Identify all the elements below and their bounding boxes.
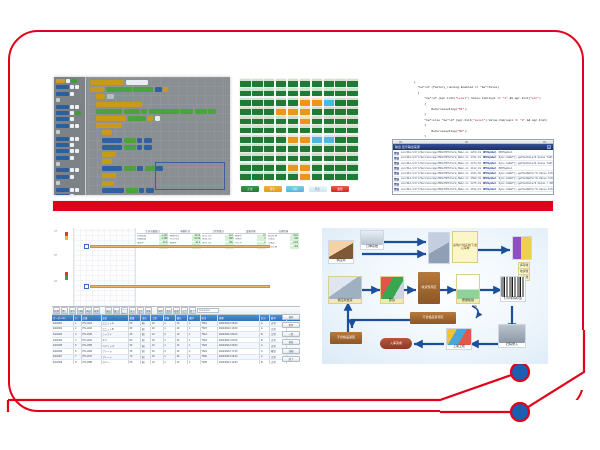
log-message: Sync.CoRef().getValAxis/S.Value.ToStr.. <box>499 162 553 165</box>
status-card[interactable] <box>300 172 311 180</box>
palette-block[interactable] <box>70 188 74 192</box>
table-cell: 2024/03/12 17:00 <box>218 349 260 354</box>
panel-flow-diagram[interactable]: 供应商 订单系统 采购计划系统下发入库单 库存账 收货账 上架账 供应商送货 卸… <box>322 228 548 364</box>
flow-node-archive[interactable] <box>512 236 532 260</box>
palette-block[interactable] <box>56 98 60 102</box>
status-card[interactable] <box>252 98 263 106</box>
status-card[interactable] <box>288 98 299 106</box>
code-block[interactable] <box>141 109 147 114</box>
panel-status-grid[interactable]: 正常警告待机停止故障 <box>238 77 360 195</box>
status-card[interactable] <box>288 116 299 124</box>
status-card[interactable] <box>300 135 311 143</box>
code-block[interactable] <box>96 94 105 99</box>
status-card[interactable] <box>264 144 275 152</box>
code-block[interactable] <box>90 80 124 85</box>
code-block-row[interactable] <box>102 152 228 157</box>
palette-block[interactable] <box>70 92 74 96</box>
palette-block[interactable] <box>75 85 79 89</box>
gantt-node-1[interactable] <box>84 244 89 249</box>
code-block[interactable] <box>124 166 136 171</box>
status-card[interactable] <box>276 153 287 161</box>
status-card[interactable] <box>288 88 299 96</box>
status-card[interactable] <box>288 153 299 161</box>
toolbar-button[interactable]: 設定 <box>137 307 144 314</box>
toolbar-button[interactable]: ソート <box>121 307 128 314</box>
palette-block[interactable] <box>75 188 79 192</box>
palette-block[interactable] <box>56 156 69 160</box>
flow-node-unload[interactable]: 卸货 <box>380 276 404 304</box>
palette-block[interactable] <box>75 149 79 153</box>
palette-block[interactable] <box>70 85 74 89</box>
status-card[interactable] <box>335 125 346 133</box>
status-card[interactable] <box>335 163 346 171</box>
status-card[interactable] <box>240 107 251 115</box>
palette-block-row[interactable] <box>56 117 83 121</box>
side-action-button[interactable]: 一覧 <box>282 331 300 337</box>
code-block[interactable] <box>102 130 112 135</box>
summary-value: 640 <box>290 238 299 241</box>
code-block[interactable] <box>144 138 152 143</box>
code-text-area[interactable]: { "kw">if (factory_running.Enabled == "k… <box>392 77 554 137</box>
code-block[interactable] <box>107 94 114 99</box>
palette-block[interactable] <box>70 175 74 179</box>
status-card[interactable] <box>288 125 299 133</box>
code-block-row[interactable] <box>96 109 228 114</box>
palette-block-row[interactable] <box>56 181 83 185</box>
palette-block[interactable] <box>56 137 69 141</box>
palette-block-row[interactable] <box>56 149 83 153</box>
code-block[interactable] <box>137 138 142 143</box>
status-card[interactable] <box>347 88 358 96</box>
status-card[interactable] <box>264 163 275 171</box>
palette-block[interactable] <box>56 117 69 121</box>
palette-block-row[interactable] <box>56 143 83 147</box>
palette-block[interactable] <box>56 130 60 134</box>
status-card[interactable] <box>300 163 311 171</box>
status-card[interactable] <box>264 125 275 133</box>
flow-node-label-print[interactable]: 打印条码标签 <box>500 276 526 302</box>
table-row[interactable]: 24010088PN-1088カバー55個101101T6352024/03/1… <box>52 360 300 364</box>
code-block[interactable] <box>124 109 140 114</box>
status-card[interactable] <box>240 88 251 96</box>
code-block[interactable] <box>180 109 193 114</box>
log-row[interactable]: 错误con/DLL/ctrl/Service/app/MFG/PRT/Form_… <box>393 187 553 192</box>
toolbar-button[interactable]: 印刷 <box>77 307 84 314</box>
toolbar-button[interactable]: 出力 <box>181 307 188 314</box>
status-card-grid[interactable] <box>240 79 358 180</box>
status-card[interactable] <box>312 98 323 106</box>
side-action-button[interactable]: 更新 <box>282 339 300 345</box>
palette-block[interactable] <box>56 143 69 147</box>
status-card[interactable] <box>252 125 263 133</box>
status-card[interactable] <box>276 135 287 143</box>
blocks-canvas[interactable] <box>88 77 230 195</box>
code-block-row[interactable] <box>90 87 228 92</box>
code-block[interactable] <box>144 145 152 150</box>
palette-block[interactable] <box>70 105 74 109</box>
palette-block-row[interactable] <box>56 111 83 115</box>
status-card[interactable] <box>300 88 311 96</box>
status-card[interactable] <box>347 116 358 124</box>
summary-table: 設備状態稼働中18待機中4停止中2保守中1 <box>235 229 266 305</box>
status-card[interactable] <box>264 88 275 96</box>
flow-node-order-sys[interactable]: 订单系统 <box>360 230 384 250</box>
palette-block-row[interactable] <box>56 105 83 109</box>
status-card[interactable] <box>264 172 275 180</box>
status-card[interactable] <box>335 116 346 124</box>
toolbar-button[interactable]: 表示 <box>129 307 136 314</box>
palette-block[interactable] <box>70 143 74 147</box>
status-card[interactable] <box>288 172 299 180</box>
status-card[interactable] <box>324 135 335 143</box>
code-block[interactable] <box>128 116 146 121</box>
grid-toolbar[interactable]: 新規開く保存印刷再読検索抽出集計ソート表示設定更新削除追加複製出力終了Comma… <box>52 307 300 315</box>
code-block-row[interactable] <box>102 145 228 150</box>
palette-block[interactable] <box>56 124 69 128</box>
log-row-list[interactable]: 错误con/DLL/ctrl/Service/app/MFG/PRT/Form_… <box>393 150 553 192</box>
code-block[interactable] <box>146 188 154 193</box>
palette-block[interactable] <box>56 149 69 153</box>
scheduler-rail[interactable]: CT ST LD <box>52 228 74 306</box>
flow-label-delivery: 供应商送货 <box>337 299 352 303</box>
status-card[interactable] <box>288 135 299 143</box>
summary-table-title: 在庫情報 <box>268 229 299 234</box>
panel-blocks-editor[interactable] <box>54 77 230 195</box>
status-card[interactable] <box>324 144 335 152</box>
flow-node-shelve[interactable]: 上架上柜 <box>446 328 472 350</box>
status-card[interactable] <box>347 107 358 115</box>
status-card[interactable] <box>264 98 275 106</box>
status-card[interactable] <box>252 144 263 152</box>
flow-node-erp[interactable]: 采购计划系统下发入库单 <box>452 231 478 263</box>
palette-block[interactable] <box>56 181 60 185</box>
status-card[interactable] <box>300 125 311 133</box>
status-card[interactable] <box>276 107 287 115</box>
status-card[interactable] <box>312 153 323 161</box>
status-card[interactable] <box>324 163 335 171</box>
status-card[interactable] <box>264 79 275 87</box>
code-block[interactable] <box>147 116 153 121</box>
status-card[interactable] <box>324 153 335 161</box>
status-card[interactable] <box>312 144 323 152</box>
toolbar-button[interactable]: 検索 <box>93 307 100 314</box>
gantt-node-2[interactable] <box>84 284 89 289</box>
output-log-panel[interactable]: 输出 显示输出来源 × 错误con/DLL/ctrl/Service/app/M… <box>392 139 554 195</box>
status-card[interactable] <box>347 153 358 161</box>
palette-block[interactable] <box>75 111 81 115</box>
flow-node-printer[interactable] <box>428 232 450 264</box>
status-card[interactable] <box>252 116 263 124</box>
code-block[interactable] <box>102 188 124 193</box>
code-block[interactable] <box>90 87 104 92</box>
code-block[interactable] <box>155 87 162 92</box>
status-card[interactable] <box>347 172 358 180</box>
close-icon[interactable]: × <box>547 145 551 149</box>
flow-node-delivery[interactable]: 供应商送货 <box>328 276 362 304</box>
code-block[interactable] <box>124 145 136 150</box>
code-block[interactable] <box>163 87 168 92</box>
palette-block[interactable] <box>70 194 74 195</box>
status-card[interactable] <box>288 107 299 115</box>
code-block[interactable] <box>126 188 138 193</box>
palette-block[interactable] <box>56 162 60 166</box>
toolbar-button[interactable]: 終了 <box>189 307 196 314</box>
status-card[interactable] <box>264 107 275 115</box>
status-card[interactable] <box>252 135 263 143</box>
status-card[interactable] <box>312 79 323 87</box>
toolbar-button[interactable]: 複製 <box>173 307 180 314</box>
side-action-button[interactable]: 検索 <box>282 314 300 320</box>
flow-node-scan[interactable]: 扫码录入 <box>498 324 526 348</box>
palette-block-row[interactable] <box>56 130 83 134</box>
status-card[interactable] <box>240 125 251 133</box>
code-block-row[interactable] <box>90 80 228 85</box>
status-card[interactable] <box>300 153 311 161</box>
code-block-row[interactable] <box>96 94 228 99</box>
status-card[interactable] <box>347 79 358 87</box>
status-card[interactable] <box>264 116 275 124</box>
status-card[interactable] <box>335 144 346 152</box>
code-block-row[interactable] <box>96 116 228 121</box>
status-card[interactable] <box>324 116 335 124</box>
status-card[interactable] <box>252 153 263 161</box>
palette-block[interactable] <box>56 92 69 96</box>
palette-block[interactable] <box>70 117 74 121</box>
code-block-row[interactable] <box>102 130 228 135</box>
status-card-body <box>300 146 311 152</box>
code-block[interactable] <box>96 116 126 121</box>
blocks-palette[interactable] <box>54 77 86 195</box>
status-card[interactable] <box>312 116 323 124</box>
status-card[interactable] <box>324 107 335 115</box>
code-block[interactable] <box>145 166 155 171</box>
status-card[interactable] <box>240 153 251 161</box>
status-card[interactable] <box>324 125 335 133</box>
gantt-area[interactable] <box>74 228 136 306</box>
status-card[interactable] <box>300 107 311 115</box>
toolbar-button[interactable]: 集計 <box>113 307 120 314</box>
palette-block-row[interactable] <box>56 92 83 96</box>
status-card[interactable] <box>335 172 346 180</box>
gantt-bar-2[interactable] <box>90 285 270 288</box>
palette-block[interactable] <box>56 168 69 172</box>
code-block[interactable] <box>102 152 116 157</box>
status-card[interactable] <box>252 172 263 180</box>
code-block-row[interactable] <box>96 102 228 107</box>
status-card[interactable] <box>312 88 323 96</box>
palette-block-row[interactable] <box>56 98 83 102</box>
status-card[interactable] <box>252 107 263 115</box>
code-block[interactable] <box>124 138 136 143</box>
status-card[interactable] <box>276 163 287 171</box>
status-card[interactable] <box>240 79 251 87</box>
palette-block[interactable] <box>75 137 79 141</box>
status-card[interactable] <box>288 79 299 87</box>
toolbar-button[interactable]: 開く <box>61 307 68 314</box>
status-card[interactable] <box>276 98 287 106</box>
side-action-button[interactable]: 条件 <box>282 322 300 328</box>
status-card[interactable] <box>276 88 287 96</box>
status-card[interactable] <box>252 88 263 96</box>
scheduler-side-buttons[interactable]: 検索条件一覧更新印刷終了 <box>282 314 300 362</box>
toolbar-button[interactable]: 新規 <box>53 307 60 314</box>
palette-block-row[interactable] <box>56 194 83 195</box>
palette-block[interactable] <box>70 137 74 141</box>
status-card[interactable] <box>240 116 251 124</box>
status-card[interactable] <box>347 98 358 106</box>
status-card[interactable] <box>324 172 335 180</box>
palette-block[interactable] <box>70 168 74 172</box>
status-card[interactable] <box>324 79 335 87</box>
status-card[interactable] <box>335 107 346 115</box>
status-card-body <box>252 128 263 134</box>
palette-block[interactable] <box>75 124 79 128</box>
status-card[interactable] <box>335 98 346 106</box>
status-card[interactable] <box>240 144 251 152</box>
panel-scheduler[interactable]: CT ST LD 生産実績集計計画数量1,240実績数量1,188達成率95.8… <box>52 228 300 364</box>
status-card[interactable] <box>335 135 346 143</box>
status-card[interactable] <box>312 135 323 143</box>
palette-block[interactable] <box>70 149 74 153</box>
code-block[interactable] <box>96 109 122 114</box>
code-block[interactable] <box>102 145 122 150</box>
side-action-button[interactable]: 印刷 <box>282 348 300 354</box>
code-block[interactable] <box>102 166 122 171</box>
scheduler-data-grid[interactable]: 新規開く保存印刷再読検索抽出集計ソート表示設定更新削除追加複製出力終了Comma… <box>52 306 300 364</box>
grid-body[interactable]: 24010011PN-1021ユニットA50個101101T6012024/03… <box>52 321 300 364</box>
palette-block[interactable] <box>56 188 69 192</box>
status-card[interactable] <box>240 135 251 143</box>
code-block-row[interactable] <box>102 138 228 143</box>
status-card[interactable] <box>276 125 287 133</box>
palette-block[interactable] <box>56 85 69 89</box>
palette-block[interactable] <box>70 111 74 115</box>
status-card[interactable] <box>276 172 287 180</box>
status-card[interactable] <box>276 79 287 87</box>
status-card[interactable] <box>276 116 287 124</box>
log-toolbar[interactable] <box>393 140 553 144</box>
status-card[interactable] <box>300 116 311 124</box>
code-block[interactable] <box>155 116 160 121</box>
code-block[interactable] <box>102 173 116 178</box>
toolbar-button[interactable]: 抽出 <box>105 307 112 314</box>
status-card[interactable] <box>252 163 263 171</box>
palette-block[interactable] <box>56 105 69 109</box>
palette-block-row[interactable] <box>56 168 83 172</box>
status-card[interactable] <box>347 135 358 143</box>
flow-node-done[interactable]: 入库完成 <box>380 338 412 349</box>
status-card[interactable] <box>312 172 323 180</box>
flow-node-stage[interactable]: 收货暂存区 <box>418 272 440 304</box>
status-card[interactable] <box>300 79 311 87</box>
palette-block-row[interactable] <box>56 162 83 166</box>
flow-node-supplier[interactable]: 供应商 <box>328 240 354 264</box>
status-card[interactable] <box>324 98 335 106</box>
palette-block[interactable] <box>56 175 69 179</box>
status-card[interactable] <box>240 163 251 171</box>
status-card[interactable] <box>312 163 323 171</box>
summary-value: 1,055 <box>290 242 299 245</box>
status-card[interactable] <box>300 144 311 152</box>
status-card[interactable] <box>252 79 263 87</box>
status-card[interactable] <box>300 98 311 106</box>
status-card[interactable] <box>288 144 299 152</box>
status-card[interactable] <box>276 144 287 152</box>
palette-block[interactable] <box>71 79 77 83</box>
flow-node-reject-zone[interactable]: 不合格品暂存区 <box>410 312 456 324</box>
code-block[interactable] <box>102 181 114 186</box>
palette-block[interactable] <box>75 168 79 172</box>
toolbar-button[interactable]: 追加 <box>165 307 172 314</box>
code-block[interactable] <box>137 145 142 150</box>
palette-block[interactable] <box>70 124 74 128</box>
palette-block[interactable] <box>56 194 69 195</box>
status-card[interactable] <box>324 88 335 96</box>
toolbar-button[interactable]: 保存 <box>69 307 76 314</box>
code-block[interactable] <box>102 138 122 143</box>
gantt-bar-1[interactable] <box>90 245 270 248</box>
flow-node-reject-return[interactable]: 不合格品退回 <box>330 332 362 344</box>
code-block[interactable] <box>106 87 132 92</box>
palette-block-row[interactable] <box>56 137 83 141</box>
code-block[interactable] <box>133 87 153 92</box>
palette-block-row[interactable] <box>56 79 83 83</box>
status-card[interactable] <box>335 88 346 96</box>
status-card-body <box>276 156 287 162</box>
status-card[interactable] <box>312 125 323 133</box>
palette-block[interactable] <box>70 156 74 160</box>
toolbar-button[interactable]: 削除 <box>157 307 164 314</box>
palette-block[interactable] <box>75 105 79 109</box>
code-block-row[interactable] <box>96 123 228 128</box>
palette-block[interactable] <box>66 79 70 83</box>
flow-node-inspect[interactable]: 质量检验 <box>456 274 480 304</box>
code-block[interactable] <box>208 109 216 114</box>
code-block[interactable] <box>149 109 179 114</box>
palette-block-row[interactable] <box>56 156 83 160</box>
status-card[interactable] <box>240 98 251 106</box>
code-block[interactable] <box>102 159 112 164</box>
code-block[interactable] <box>195 109 207 114</box>
status-card[interactable] <box>347 125 358 133</box>
panel-code-editor[interactable]: { "kw">if (factory_running.Enabled == "k… <box>392 77 554 195</box>
palette-block[interactable] <box>56 111 69 115</box>
status-card[interactable] <box>240 172 251 180</box>
status-card[interactable] <box>264 153 275 161</box>
status-card[interactable] <box>312 107 323 115</box>
code-block[interactable] <box>139 188 144 193</box>
side-action-button[interactable]: 終了 <box>282 356 300 362</box>
code-block[interactable] <box>137 166 143 171</box>
palette-block-row[interactable] <box>56 85 83 89</box>
palette-block-row[interactable] <box>56 175 83 179</box>
palette-block-row[interactable] <box>56 124 83 128</box>
toolbar-button[interactable]: 更新 <box>145 307 152 314</box>
code-block[interactable] <box>96 102 142 107</box>
code-block[interactable] <box>126 80 148 85</box>
toolbar-button[interactable]: 再読 <box>85 307 92 314</box>
status-card[interactable] <box>288 163 299 171</box>
status-card[interactable] <box>347 144 358 152</box>
status-card[interactable] <box>264 135 275 143</box>
status-card[interactable] <box>335 79 346 87</box>
status-card[interactable] <box>335 153 346 161</box>
palette-block-row[interactable] <box>56 188 83 192</box>
toolbar-command-field[interactable]: Command <box>197 308 219 314</box>
status-card[interactable] <box>347 163 358 171</box>
code-block[interactable] <box>96 123 122 128</box>
palette-block[interactable] <box>56 79 65 83</box>
